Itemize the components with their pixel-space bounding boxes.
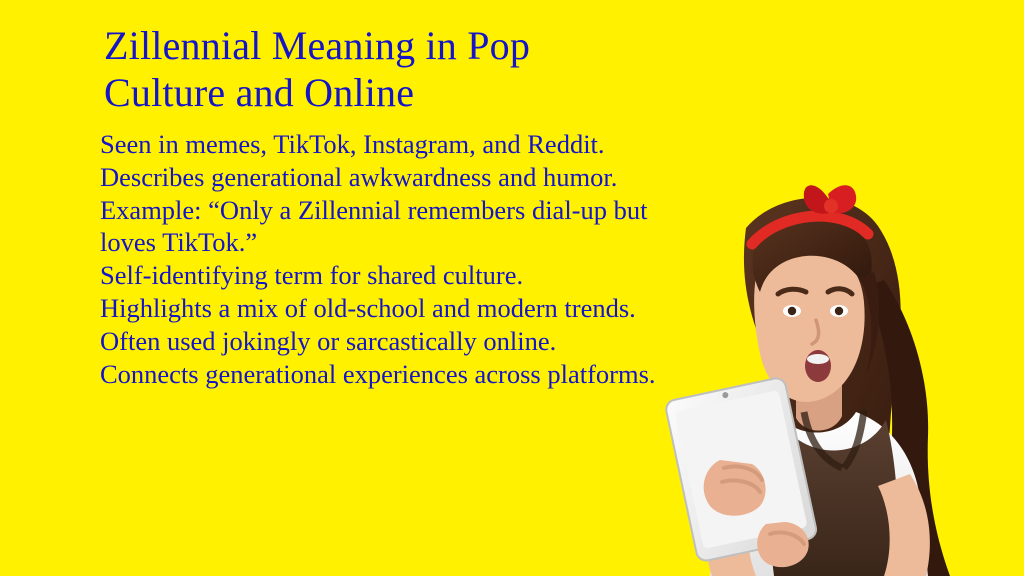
list-item: Example: “Only a Zillennial remembers di…	[100, 194, 680, 260]
slide-canvas: Zillennial Meaning in Pop Culture and On…	[0, 0, 1024, 576]
list-item: Highlights a mix of old-school and moder…	[100, 292, 680, 325]
list-item: Describes generational awkwardness and h…	[100, 161, 680, 194]
bullet-list: Seen in memes, TikTok, Instagram, and Re…	[100, 128, 680, 390]
list-item: Often used jokingly or sarcastically onl…	[100, 325, 680, 358]
list-item: Connects generational experiences across…	[100, 358, 680, 391]
list-item: Self-identifying term for shared culture…	[100, 259, 680, 292]
page-title: Zillennial Meaning in Pop Culture and On…	[104, 22, 744, 116]
list-item: Seen in memes, TikTok, Instagram, and Re…	[100, 128, 680, 161]
woman-with-tablet-photo	[628, 168, 1024, 576]
